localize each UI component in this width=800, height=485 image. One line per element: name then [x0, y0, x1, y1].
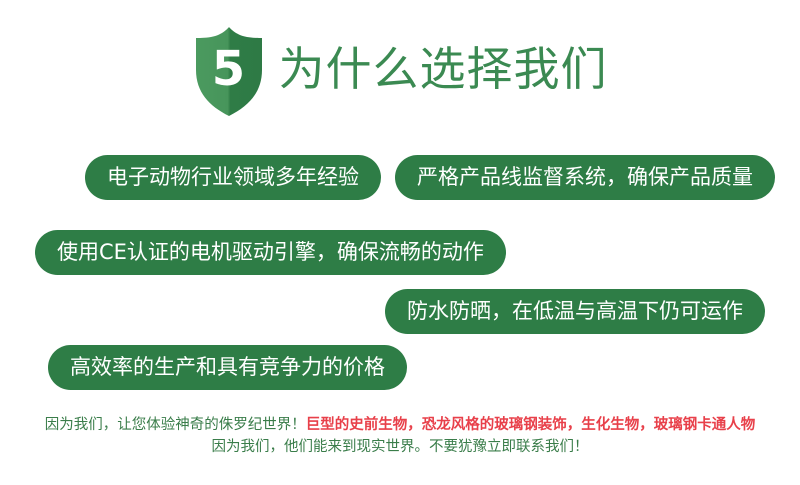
- footer-line-1-lead: 因为我们，让您体验神奇的侏罗纪世界！: [45, 417, 306, 433]
- footer-line-1-highlight: 巨型的史前生物，恐龙风格的玻璃钢装饰，生化生物，玻璃钢卡通人物: [306, 417, 756, 433]
- feature-pill-1: 电子动物行业领域多年经验: [85, 155, 381, 200]
- shield-badge: 5: [193, 26, 265, 118]
- footer-copy: 因为我们，让您体验神奇的侏罗纪世界！巨型的史前生物，恐龙风格的玻璃钢装饰，生化生…: [0, 414, 800, 458]
- promo-banner: 5 为什么选择我们 电子动物行业领域多年经验 严格产品线监督系统，确保产品质量 …: [0, 0, 800, 485]
- feature-pill-3: 使用CE认证的电机驱动引擎，确保流畅的动作: [35, 230, 506, 275]
- feature-pill-4: 防水防晒，在低温与高温下仍可运作: [385, 289, 765, 334]
- badge-number: 5: [193, 26, 265, 118]
- feature-pill-2: 严格产品线监督系统，确保产品质量: [395, 155, 775, 200]
- page-title: 为什么选择我们: [279, 46, 608, 98]
- feature-pill-5: 高效率的生产和具有竞争力的价格: [48, 345, 407, 390]
- banner-header: 5 为什么选择我们: [0, 22, 800, 122]
- footer-line-1: 因为我们，让您体验神奇的侏罗纪世界！巨型的史前生物，恐龙风格的玻璃钢装饰，生化生…: [0, 414, 800, 436]
- footer-line-2: 因为我们，他们能来到现实世界。不要犹豫立即联系我们！: [0, 436, 800, 458]
